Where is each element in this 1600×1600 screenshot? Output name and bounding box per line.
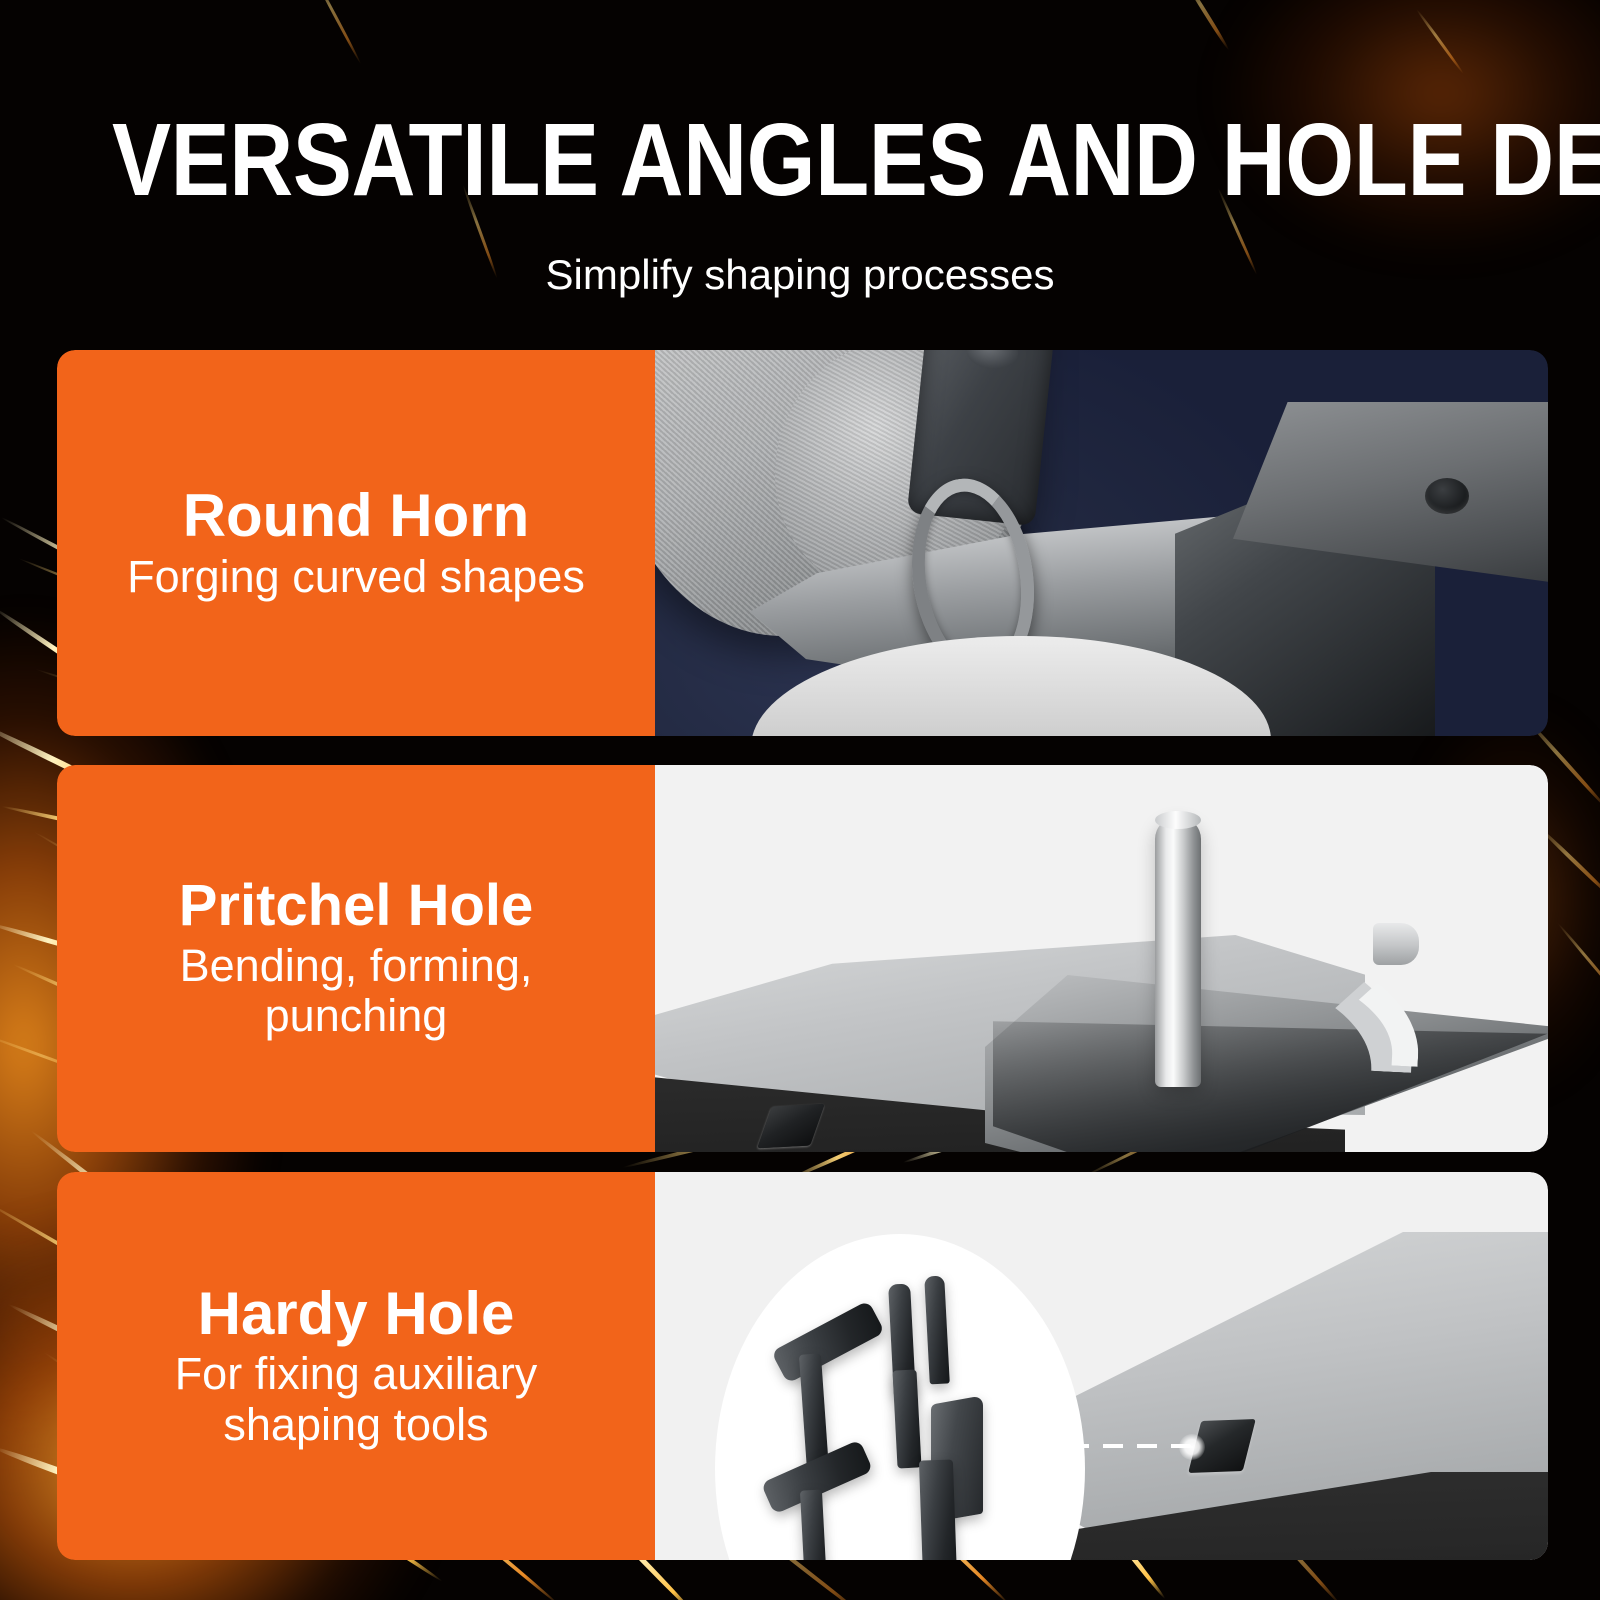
hardy-tool-icon (919, 1459, 957, 1560)
feature-description: Forging curved shapes (127, 552, 585, 602)
feature-heading: Round Horn (183, 484, 530, 548)
feature-photo-hardy-hole (655, 1172, 1548, 1560)
feature-description: For fixing auxiliary shaping tools (91, 1349, 621, 1450)
page-subtitle: Simplify shaping processes (0, 254, 1600, 296)
feature-description: Bending, forming, punching (91, 941, 621, 1042)
feature-heading: Pritchel Hole (179, 875, 534, 936)
feature-card-hardy-hole: Hardy Hole For fixing auxiliary shaping … (57, 1172, 1548, 1560)
feature-card-round-horn: Round Horn Forging curved shapes (57, 350, 1548, 736)
spark-streak (308, 0, 362, 65)
spark-streak (1557, 922, 1600, 1001)
page-title: VERSATILE ANGLES AND HOLE DESIGN (112, 108, 1488, 211)
spark-streak (1415, 8, 1464, 74)
spark-streak (1179, 0, 1230, 51)
feature-heading: Hardy Hole (198, 1282, 515, 1346)
feature-photo-round-horn (655, 350, 1548, 736)
anvil-face-hole (1425, 478, 1469, 514)
feature-photo-pritchel-hole (655, 765, 1548, 1152)
feature-card-pritchel-hole: Pritchel Hole Bending, forming, punching (57, 765, 1548, 1152)
feature-text-panel-round-horn: Round Horn Forging curved shapes (57, 350, 655, 736)
feature-text-panel-hardy-hole: Hardy Hole For fixing auxiliary shaping … (57, 1172, 655, 1560)
steel-rod-workpiece (1155, 817, 1201, 1087)
product-feature-graphic: VERSATILE ANGLES AND HOLE DESIGN Simplif… (0, 0, 1600, 1600)
feature-text-panel-pritchel-hole: Pritchel Hole Bending, forming, punching (57, 765, 655, 1152)
bent-rod-tip (1373, 923, 1419, 965)
hardy-tool-icon (892, 1369, 921, 1468)
